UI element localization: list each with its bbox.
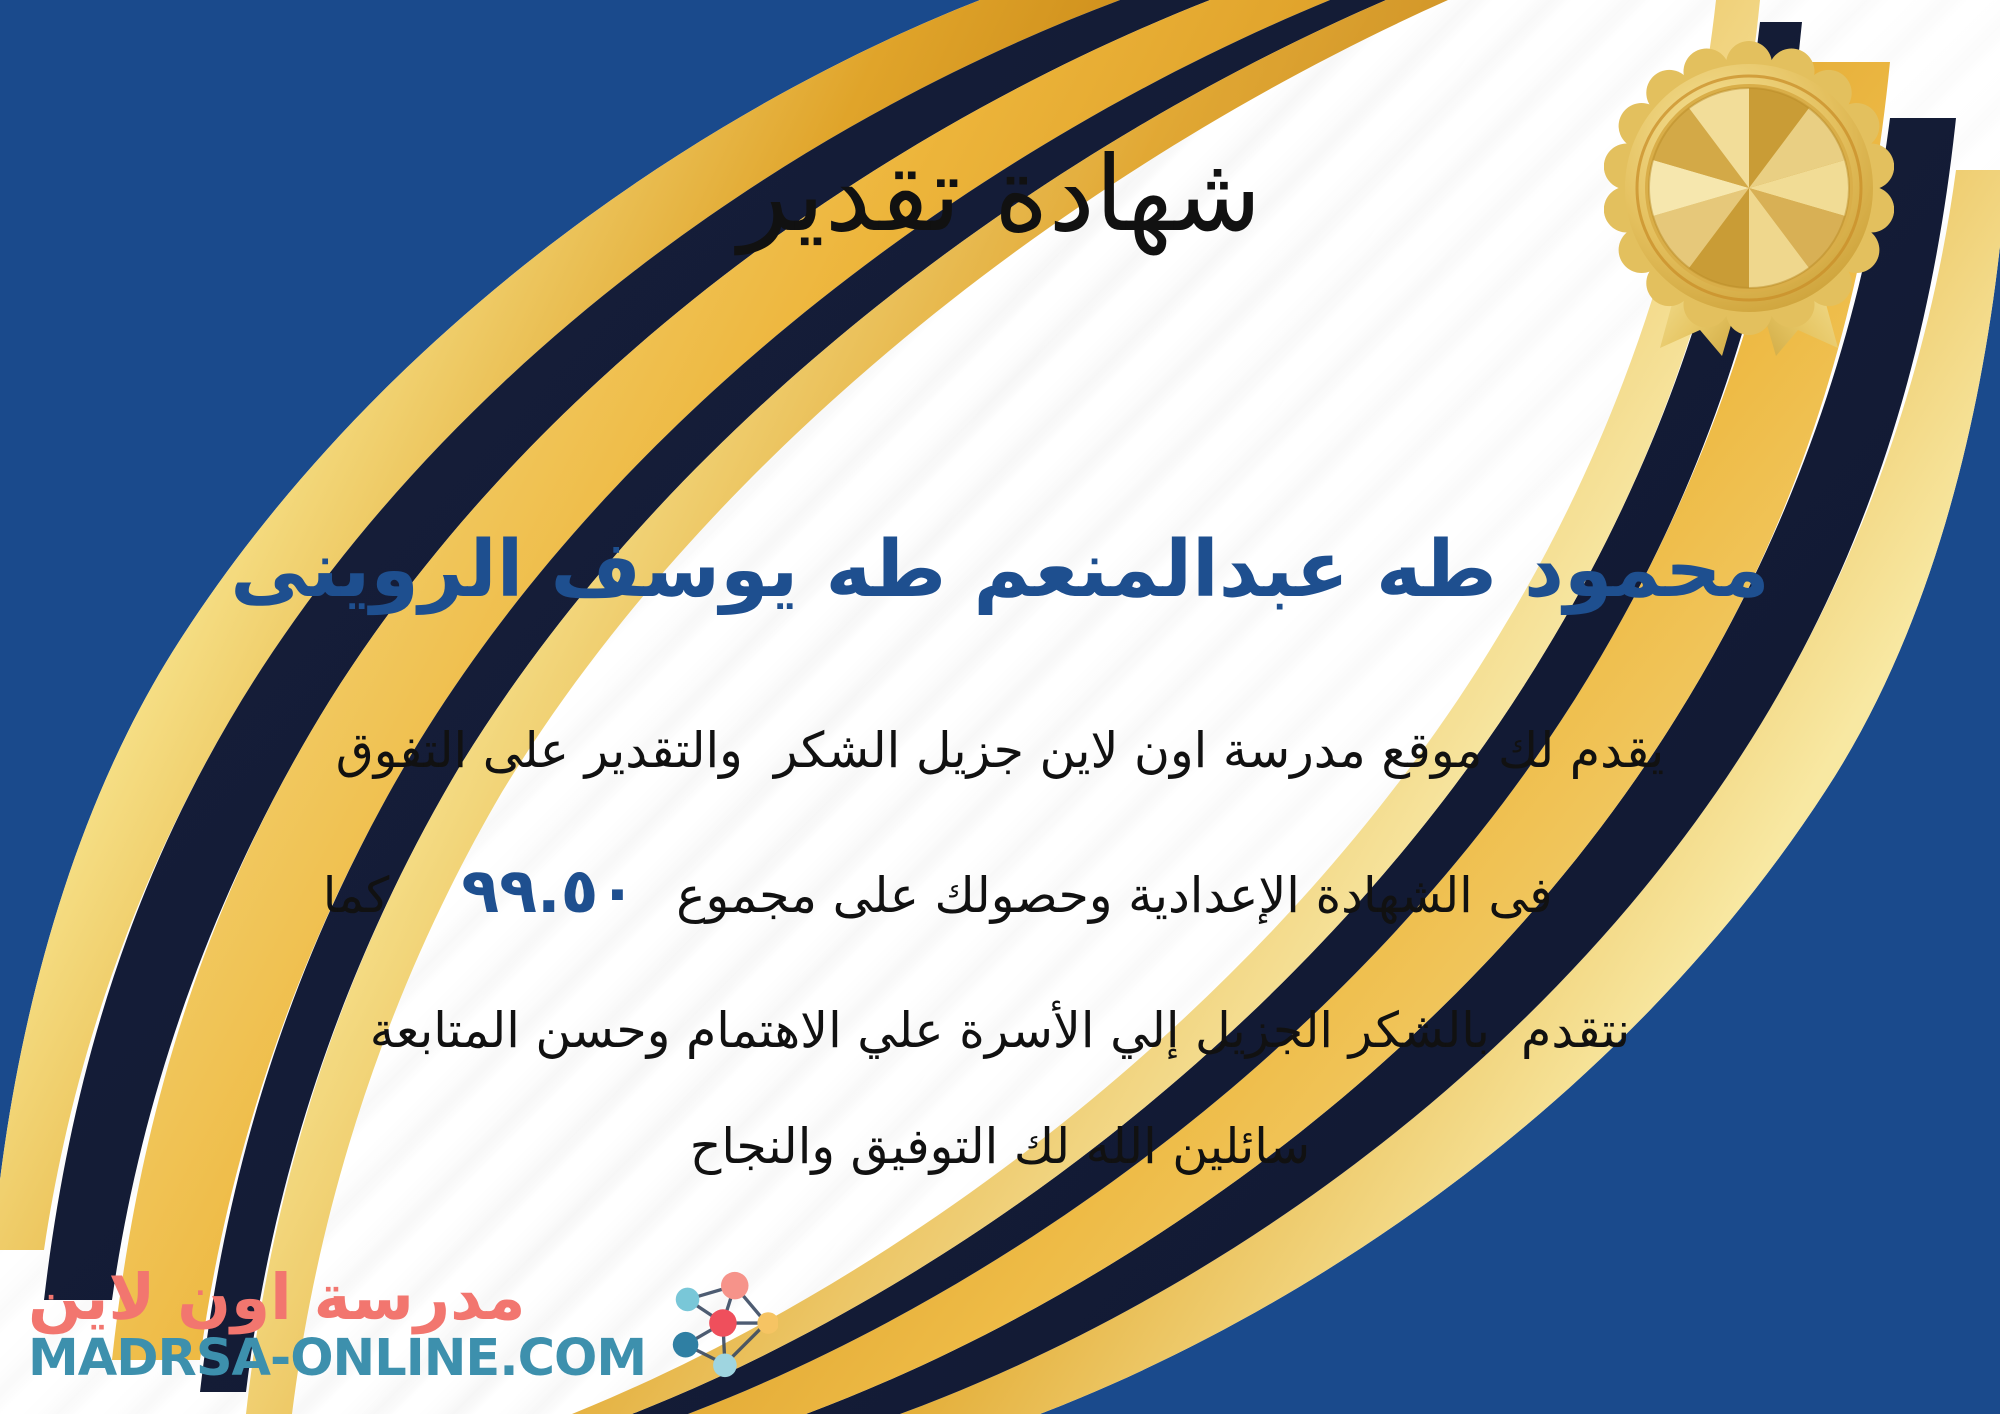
- closing-line: سائلين الله لك التوفيق والنجاح: [0, 1118, 2000, 1175]
- logo-domain: MADRSA-ONLINE.COM: [28, 1333, 646, 1384]
- certificate-page: شهادة تقدير محمود طه عبدالمنعم طه يوسف ا…: [0, 0, 2000, 1414]
- logo-arabic-name: مدرسة اون لاين: [28, 1266, 525, 1329]
- network-nodes-icon: [660, 1266, 778, 1384]
- body-line-1: يقدم لك موقع مدرسة اون لاين جزيل الشكر و…: [90, 718, 1910, 784]
- recipient-name: محمود طه عبدالمنعم طه يوسف الروينى: [0, 528, 2000, 614]
- body-line-2: فى الشهادة الإعدادية وحصولك على مجموع٩٩.…: [90, 784, 1910, 998]
- body-line-3: نتقدم بالشكر الجزيل إلي الأسرة علي الاهت…: [90, 998, 1910, 1064]
- brand-logo[interactable]: مدرسة اون لاين MADRSA-ONLINE.COM: [28, 1266, 778, 1384]
- logo-text-group: مدرسة اون لاين MADRSA-ONLINE.COM: [28, 1266, 646, 1384]
- body-line-2-after-grade: كما: [323, 867, 390, 924]
- page-title: شهادة تقدير: [0, 140, 2000, 249]
- body-line-2-before-grade: فى الشهادة الإعدادية وحصولك على مجموع: [676, 867, 1552, 924]
- certificate-body: يقدم لك موقع مدرسة اون لاين جزيل الشكر و…: [0, 718, 2000, 1064]
- certificate-content: شهادة تقدير محمود طه عبدالمنعم طه يوسف ا…: [0, 0, 2000, 1414]
- grade-value: ٩٩.٥٠: [461, 854, 636, 927]
